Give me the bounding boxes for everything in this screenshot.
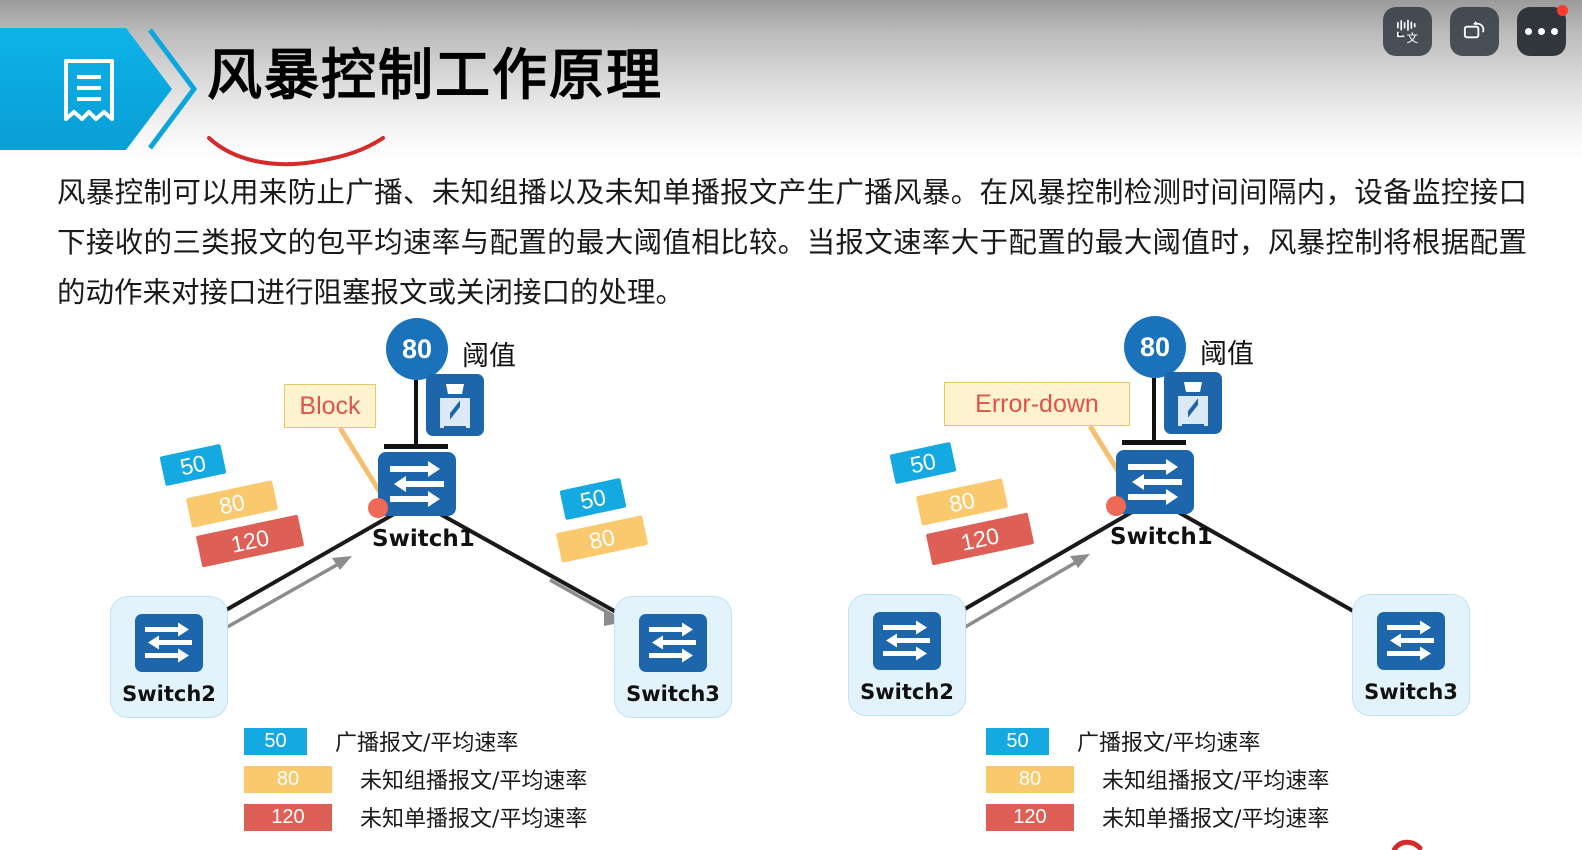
blocked-port-indicator bbox=[368, 498, 388, 518]
node-label: Switch1 bbox=[1110, 524, 1200, 550]
legend-chip-unicast: 120 bbox=[244, 804, 332, 831]
svg-text:文: 文 bbox=[1407, 31, 1419, 45]
legend-chip-broadcast: 50 bbox=[986, 728, 1049, 755]
switch-icon bbox=[873, 612, 941, 670]
action-callout-error-down: Error-down bbox=[944, 382, 1130, 426]
node-switch1[interactable]: Switch1 bbox=[1110, 450, 1200, 550]
threshold-value: 80 bbox=[386, 318, 448, 380]
threshold-stem-vertical bbox=[1152, 378, 1156, 444]
page-title: 风暴控制工作原理 bbox=[207, 48, 663, 103]
legend-label-multicast: 未知组播报文/平均速率 bbox=[1102, 763, 1329, 795]
node-label: Switch2 bbox=[114, 682, 224, 706]
action-callout-block: Block bbox=[284, 384, 376, 428]
traffic-policer-icon bbox=[1164, 372, 1222, 434]
switch-icon bbox=[639, 614, 707, 672]
legend-chip-multicast: 80 bbox=[244, 766, 332, 793]
node-label: Switch3 bbox=[618, 682, 728, 706]
switch-icon bbox=[378, 452, 456, 516]
traffic-policer-icon bbox=[426, 374, 484, 436]
threshold-stem-vertical bbox=[414, 380, 418, 448]
threshold-label: 阈值 bbox=[1200, 332, 1254, 371]
node-switch3[interactable]: Switch3 bbox=[618, 614, 728, 706]
threshold-stem-base bbox=[1122, 440, 1186, 445]
more-horizontal-icon bbox=[1525, 28, 1558, 35]
node-label: Switch3 bbox=[1356, 680, 1466, 704]
node-switch2[interactable]: Switch2 bbox=[852, 612, 962, 704]
node-switch1[interactable]: Switch1 bbox=[372, 452, 462, 552]
switch-icon bbox=[1377, 612, 1445, 670]
legend-left: 50 广播报文/平均速率 80 未知组播报文/平均速率 120 未知单播报文/平… bbox=[244, 725, 587, 839]
notification-badge-dot bbox=[1557, 5, 1568, 16]
rotate-screen-button[interactable] bbox=[1450, 7, 1499, 56]
title-underline-annotation bbox=[205, 132, 405, 170]
legend-label-broadcast: 广播报文/平均速率 bbox=[1077, 725, 1260, 757]
diagram-error-down-scenario: 80 阈值 Error-down 50 80 120 bbox=[760, 312, 1520, 842]
legend-chip-multicast: 80 bbox=[986, 766, 1074, 793]
slide-canvas: 风暴控制工作原理 文 bbox=[0, 0, 1582, 850]
legend-label-unicast: 未知单播报文/平均速率 bbox=[360, 801, 587, 833]
body-paragraph: 风暴控制可以用来防止广播、未知组播以及未知单播报文产生广播风暴。在风暴控制检测时… bbox=[57, 168, 1527, 318]
legend-item-multicast: 80 未知组播报文/平均速率 bbox=[986, 763, 1329, 795]
node-label: Switch2 bbox=[852, 680, 962, 704]
legend-item-broadcast: 50 广播报文/平均速率 bbox=[244, 725, 587, 757]
node-label: Switch1 bbox=[372, 526, 462, 552]
node-switch3[interactable]: Switch3 bbox=[1356, 612, 1466, 704]
switch-icon bbox=[135, 614, 203, 672]
more-options-button[interactable] bbox=[1517, 7, 1566, 56]
error-down-port-indicator bbox=[1106, 496, 1126, 516]
threshold-value: 80 bbox=[1124, 316, 1186, 378]
legend-label-unicast: 未知单播报文/平均速率 bbox=[1102, 801, 1329, 833]
legend-chip-unicast: 120 bbox=[986, 804, 1074, 831]
legend-item-unicast: 120 未知单播报文/平均速率 bbox=[244, 801, 587, 833]
legend-item-multicast: 80 未知组播报文/平均速率 bbox=[244, 763, 587, 795]
bottom-red-annotation-mark bbox=[1392, 838, 1428, 850]
legend-chip-broadcast: 50 bbox=[244, 728, 307, 755]
chevron-outline-decoration bbox=[148, 28, 198, 150]
speech-to-text-button[interactable]: 文 bbox=[1383, 7, 1432, 56]
legend-item-unicast: 120 未知单播报文/平均速率 bbox=[986, 801, 1329, 833]
node-switch2[interactable]: Switch2 bbox=[114, 614, 224, 706]
legend-label-multicast: 未知组播报文/平均速率 bbox=[360, 763, 587, 795]
document-ribbon-icon bbox=[58, 57, 120, 125]
legend-right: 50 广播报文/平均速率 80 未知组播报文/平均速率 120 未知单播报文/平… bbox=[986, 725, 1329, 839]
toolbar: 文 bbox=[1383, 7, 1566, 56]
rotate-screen-icon bbox=[1461, 18, 1488, 45]
threshold-label: 阈值 bbox=[462, 334, 516, 373]
legend-item-broadcast: 50 广播报文/平均速率 bbox=[986, 725, 1329, 757]
threshold-stem-base bbox=[384, 444, 448, 449]
switch-icon bbox=[1116, 450, 1194, 514]
speech-to-text-icon: 文 bbox=[1394, 18, 1421, 45]
diagram-block-scenario: 80 阈值 Block 50 80 120 50 80 bbox=[22, 312, 782, 842]
legend-label-broadcast: 广播报文/平均速率 bbox=[335, 725, 518, 757]
